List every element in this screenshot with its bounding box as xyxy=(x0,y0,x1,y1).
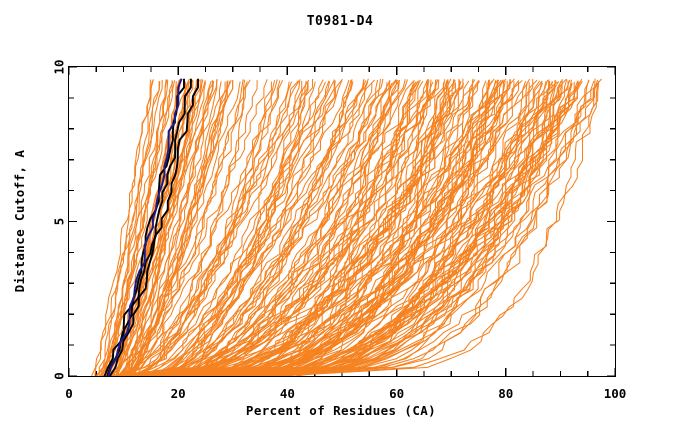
prediction-curve xyxy=(207,80,504,376)
y-tick-label: 5 xyxy=(52,218,67,226)
x-tick-label: 40 xyxy=(280,386,295,401)
prediction-curves xyxy=(92,79,602,376)
y-axis-title: Distance Cutoff, A xyxy=(12,150,27,293)
x-tick-label: 60 xyxy=(389,386,404,401)
y-tick-label: 0 xyxy=(52,372,67,380)
x-tick-label: 80 xyxy=(498,386,513,401)
chart-page: T0981-D4 020406080100 0510 Percent of Re… xyxy=(0,0,680,440)
y-tick-labels: 0510 xyxy=(52,59,67,379)
x-tick-labels: 020406080100 xyxy=(65,386,626,401)
x-tick-label: 100 xyxy=(604,386,627,401)
distance-cutoff-plot: 020406080100 0510 Percent of Residues (C… xyxy=(0,0,680,440)
x-tick-label: 20 xyxy=(171,386,186,401)
y-tick-label: 10 xyxy=(52,59,67,74)
x-tick-label: 0 xyxy=(65,386,73,401)
x-axis-title: Percent of Residues (CA) xyxy=(246,403,436,418)
